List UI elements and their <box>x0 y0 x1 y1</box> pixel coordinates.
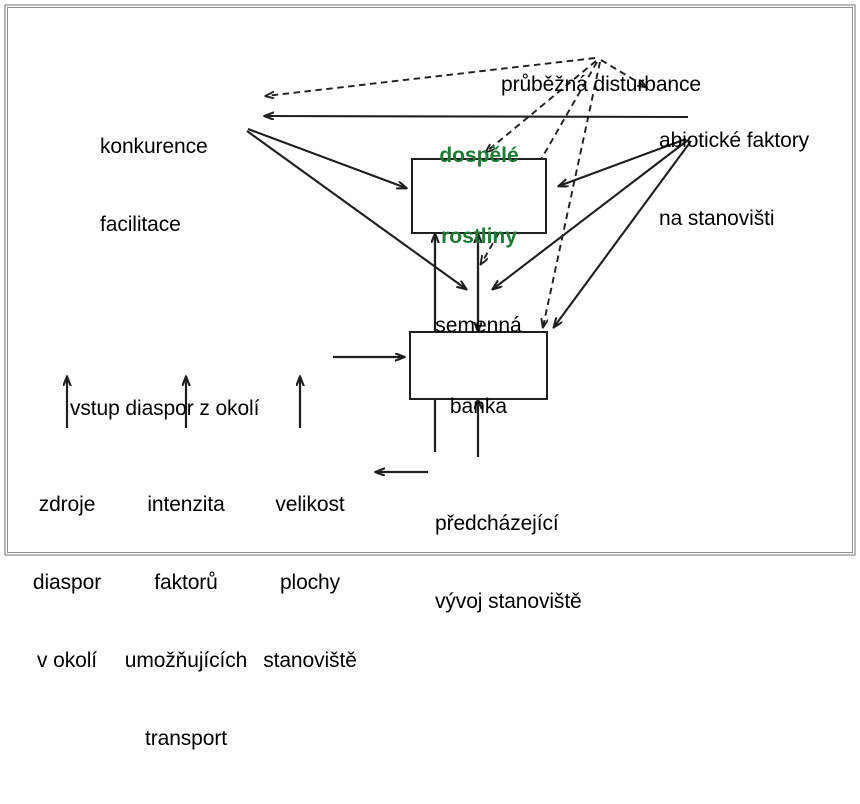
node-box-dospele-rostliny: dospělé rostliny <box>411 158 547 234</box>
node-vstup-diaspor-line1: vstup diaspor z okolí <box>70 396 350 422</box>
node-predchazejici-line1: předcházející <box>435 511 675 537</box>
node-konkurence-facilitace: konkurence facilitace <box>100 82 300 290</box>
node-velikost-plochy: velikost plochy stanoviště <box>245 440 375 726</box>
node-intenzita-line1: intenzita <box>110 492 262 518</box>
node-intenzita-line3: umožňujících <box>110 648 262 674</box>
node-intenzita-faktoru: intenzita faktorů umožňujících transport <box>110 440 262 804</box>
node-zdroje-line3: v okolí <box>7 648 127 674</box>
node-abioticke-faktory: abiotické faktory na stanovišti <box>659 76 859 284</box>
node-zdroje-line2: diaspor <box>7 570 127 596</box>
node-intenzita-line2: faktorů <box>110 570 262 596</box>
node-predchazejici-line2: vývoj stanoviště <box>435 589 675 615</box>
node-velikost-line3: stanoviště <box>245 648 375 674</box>
node-velikost-line1: velikost <box>245 492 375 518</box>
node-abioticke-line2: na stanovišti <box>659 206 859 232</box>
node-abioticke-line1: abiotické faktory <box>659 128 859 154</box>
node-zdroje-diaspor: zdroje diaspor v okolí <box>7 440 127 726</box>
node-dospele-line1: dospělé <box>439 142 518 169</box>
node-dospele-line2: rostliny <box>439 223 518 250</box>
diagram-canvas: průběžná disturbance konkurence facilita… <box>0 0 860 560</box>
node-konkurence-line2: facilitace <box>100 212 300 238</box>
node-predchazejici-vyvoj: předcházející vývoj stanoviště <box>435 459 675 667</box>
node-intenzita-line4: transport <box>110 726 262 752</box>
node-velikost-line2: plochy <box>245 570 375 596</box>
node-semenna-banka-text: semenná banka <box>435 258 521 474</box>
node-box-semenna-banka: semenná banka <box>409 331 548 400</box>
node-zdroje-line1: zdroje <box>7 492 127 518</box>
node-konkurence-line1: konkurence <box>100 134 300 160</box>
node-semenna-line1: semenná <box>435 312 521 339</box>
node-semenna-line2: banka <box>435 393 521 420</box>
